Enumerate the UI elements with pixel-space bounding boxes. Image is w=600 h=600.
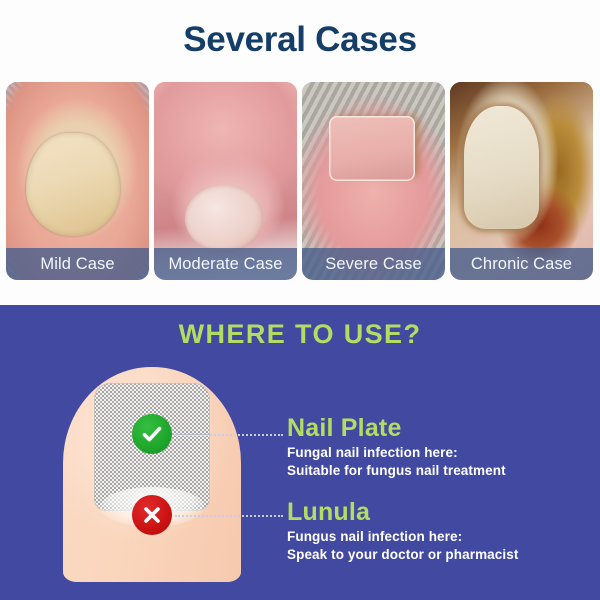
callout-lunula: Lunula Fungus nail infection here: Speak…	[287, 499, 597, 565]
where-to-use-section: WHERE TO USE? Nail Plate	[0, 305, 600, 600]
callout-line-lunula-1: Fungus nail infection here:	[287, 528, 597, 546]
case-card-mild[interactable]: Mild Case	[6, 82, 149, 280]
red-cross-marker	[132, 495, 172, 535]
section-title: WHERE TO USE?	[0, 319, 600, 350]
page-title: Several Cases	[0, 20, 600, 60]
case-caption-mild: Mild Case	[6, 248, 149, 280]
callout-line-nail-plate-2: Suitable for fungus nail treatment	[287, 462, 597, 480]
leader-line-lunula	[175, 515, 283, 517]
several-cases-section: Several Cases Mild Case Moderate Case Se…	[0, 0, 600, 305]
case-card-severe[interactable]: Severe Case	[302, 82, 445, 280]
check-icon	[140, 422, 164, 446]
callout-line-nail-plate-1: Fungal nail infection here:	[287, 444, 597, 462]
case-caption-severe: Severe Case	[302, 248, 445, 280]
callout-title-nail-plate: Nail Plate	[287, 415, 597, 441]
callouts-list: Nail Plate Fungal nail infection here: S…	[287, 415, 597, 582]
callout-nail-plate: Nail Plate Fungal nail infection here: S…	[287, 415, 597, 481]
green-check-marker	[132, 414, 172, 454]
case-card-chronic[interactable]: Chronic Case	[450, 82, 593, 280]
callout-title-lunula: Lunula	[287, 499, 597, 525]
case-caption-moderate: Moderate Case	[154, 248, 297, 280]
leader-line-nail-plate	[175, 434, 283, 436]
callout-line-lunula-2: Speak to your doctor or pharmacist	[287, 546, 597, 564]
close-icon	[141, 504, 163, 526]
case-card-moderate[interactable]: Moderate Case	[154, 82, 297, 280]
nail-diagram	[45, 367, 295, 582]
case-caption-chronic: Chronic Case	[450, 248, 593, 280]
cases-gallery: Mild Case Moderate Case Severe Case Chro…	[6, 82, 594, 282]
